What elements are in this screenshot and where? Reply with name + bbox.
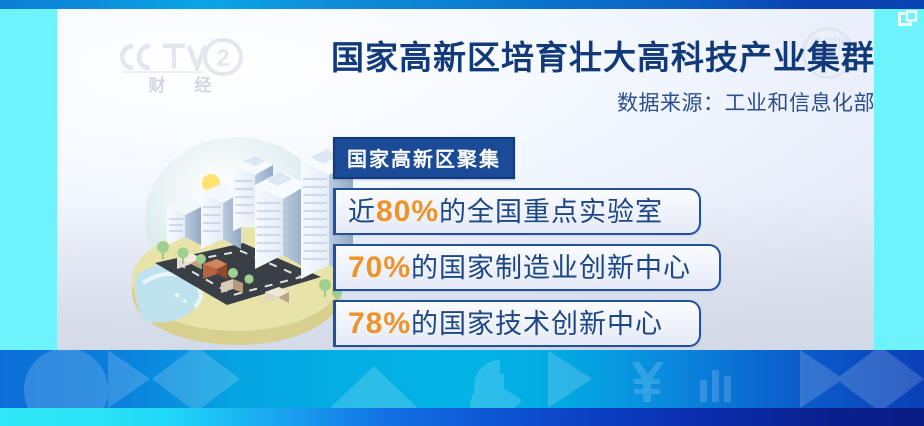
stat-row-technology: 78%的国家技术创新中心 [333,300,701,347]
stats-list: 国家高新区聚集 近80%的全国重点实验室 70%的国家制造业创新中心 78%的国… [333,137,721,347]
stat-row-labs-text: 近80%的全国重点实验室 [348,197,663,227]
stat-row-manufacturing-suffix: 的国家制造业创新中心 [411,253,691,283]
content-panel: 2 财 经 央视网 om 国家高新区培育壮大高科技产业集群 数据来源：工业和信息… [57,9,874,350]
frame-icon [896,10,918,28]
stat-row-technology-text: 78%的国家技术创新中心 [348,309,663,339]
stats-badge-header: 国家高新区聚集 [333,137,515,179]
stat-row-labs-suffix: 的全国重点实验室 [439,197,663,227]
stat-row-technology-suffix: 的国家技术创新中心 [411,309,663,339]
stat-row-labs-prefix: 近 [348,197,376,227]
page-title: 国家高新区培育壮大高科技产业集群 [275,31,874,79]
top-accent-strip [0,0,924,9]
stat-row-manufacturing-value: 70% [348,251,411,284]
data-source-label: 数据来源：工业和信息化部 [375,87,874,117]
bottom-decorative-band [0,350,924,426]
stat-row-technology-value: 78% [348,307,411,340]
broadcast-screen: 2 财 经 央视网 om 国家高新区培育壮大高科技产业集群 数据来源：工业和信息… [0,0,924,426]
bottom-band-pattern [0,350,924,408]
stat-row-manufacturing-text: 70%的国家制造业创新中心 [348,253,691,283]
right-cyan-band [874,9,924,350]
left-cyan-band [0,9,57,350]
cctv-subchannel-label: 财 经 [117,71,243,96]
stat-row-labs: 近80%的全国重点实验室 [333,188,701,235]
stat-row-labs-value: 80% [376,195,439,228]
svg-text:2: 2 [216,45,229,72]
bottom-band-lower-strip [0,408,924,426]
stat-row-manufacturing: 70%的国家制造业创新中心 [333,244,721,291]
